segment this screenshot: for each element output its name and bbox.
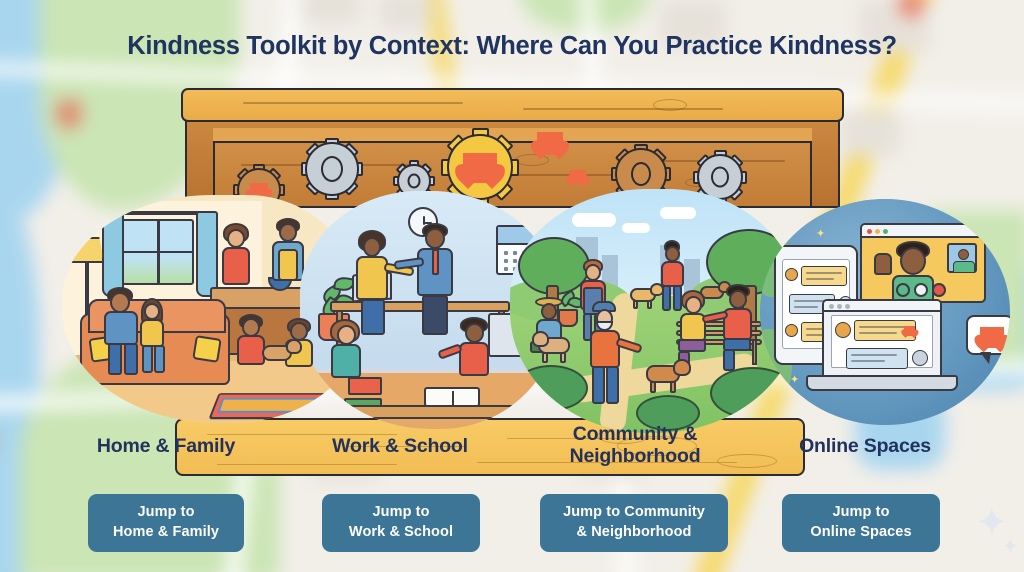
avatar: [835, 322, 851, 338]
book-icon: [348, 377, 382, 395]
close-icon: [867, 229, 872, 234]
picture-in-picture: [947, 243, 977, 273]
minimize-icon: [875, 229, 880, 234]
gear-icon: [305, 142, 359, 196]
mic-icon: [914, 283, 928, 297]
jump-to-work-school-button[interactable]: Jump to Work & School: [322, 494, 480, 552]
category-label-community-neighborhood: Community & Neighborhood: [530, 424, 740, 468]
lamp-icon: [70, 237, 104, 263]
jump-to-online-spaces-button[interactable]: Jump to Online Spaces: [782, 494, 940, 552]
necktie-icon: [432, 249, 439, 275]
window-icon: [120, 219, 194, 285]
page-title: Kindness Toolkit by Context: Where Can Y…: [0, 32, 1024, 61]
waving-hand-icon: [874, 253, 892, 275]
scene-illustrations: ✦ ✦ ✦ ✦: [0, 195, 1024, 435]
heart-icon: [570, 170, 586, 184]
infographic-canvas: ✦ ✦ Kindness Toolkit by Context: Where C…: [0, 0, 1024, 572]
jump-to-community-neighborhood-button[interactable]: Jump to Community & Neighborhood: [540, 494, 728, 552]
jump-to-home-family-button[interactable]: Jump to Home & Family: [88, 494, 244, 552]
end-call-icon: [932, 283, 946, 297]
maximize-icon: [883, 229, 888, 234]
scene-community-neighborhood: [510, 189, 800, 433]
chat-bubble: [846, 348, 908, 369]
scene-online-spaces: ✦ ✦ ✦ ✦: [760, 199, 1010, 425]
heart-icon: [904, 326, 915, 336]
heart-icon: [463, 153, 497, 183]
laptop-icon: [822, 299, 942, 377]
table-icon: [320, 405, 540, 419]
heart-icon: [537, 132, 563, 155]
laptop-base: [806, 375, 958, 391]
category-label-home-family: Home & Family: [56, 436, 276, 458]
category-label-work-school: Work & School: [300, 436, 500, 458]
desk-icon: [330, 301, 510, 312]
jump-button-group: Jump to Home & Family Jump to Work & Sch…: [0, 494, 1024, 556]
avatar: [912, 350, 928, 366]
avatar: [785, 324, 798, 337]
avatar: [785, 268, 798, 281]
chat-bubble: [801, 266, 847, 286]
heart-icon: [980, 327, 1004, 348]
video-call-window: [860, 223, 986, 303]
heart-speech-bubble: [966, 315, 1010, 355]
call-icon: [896, 283, 910, 297]
category-label-online-spaces: Online Spaces: [765, 436, 965, 458]
open-book-icon: [424, 387, 480, 407]
